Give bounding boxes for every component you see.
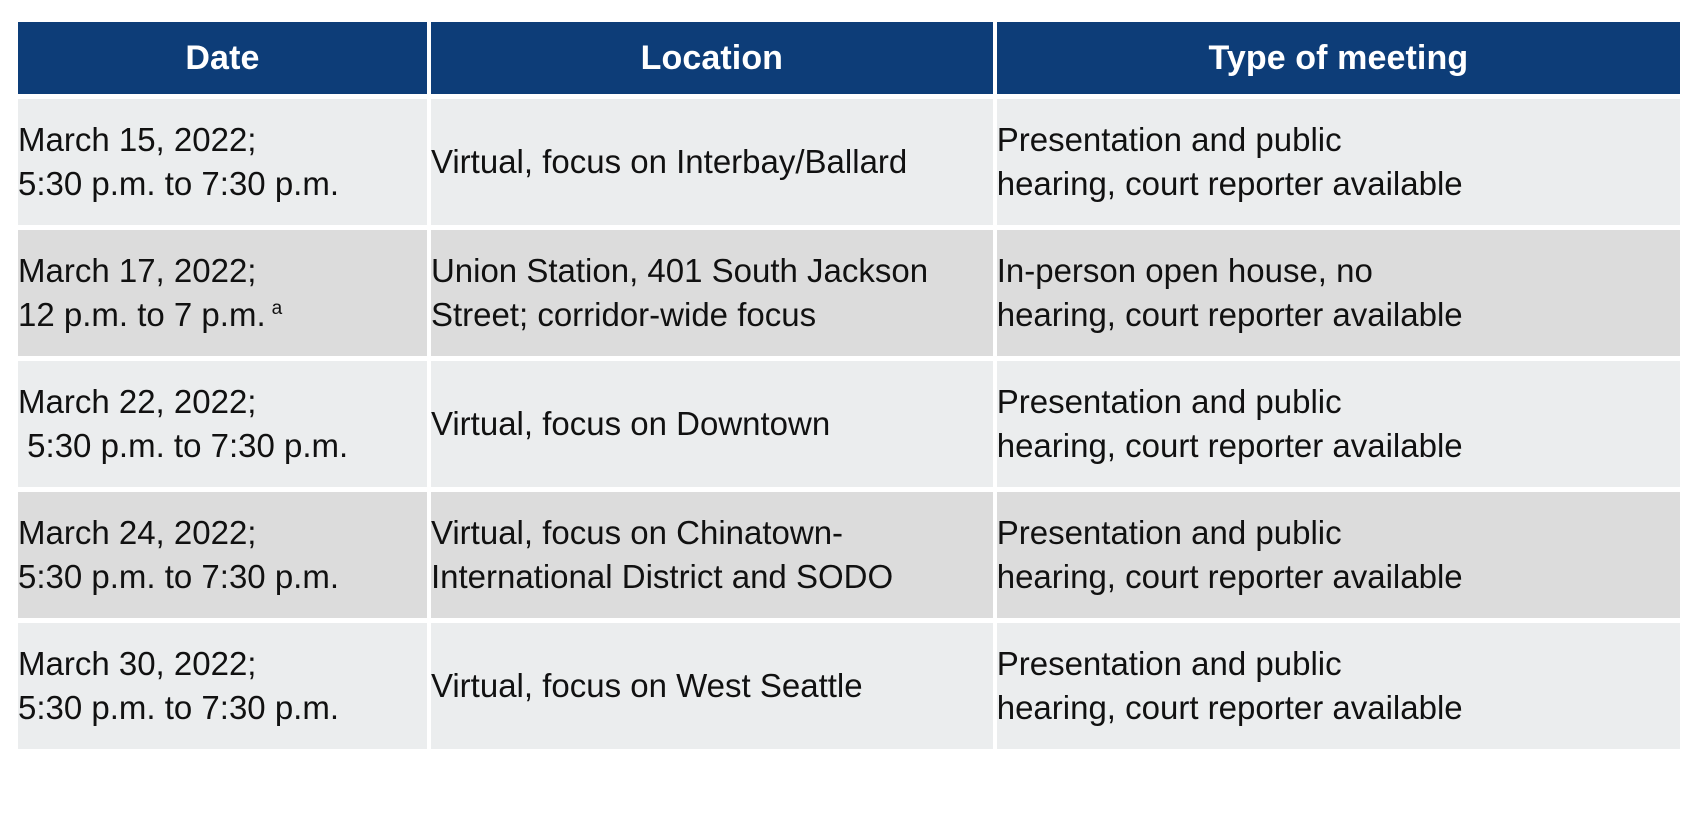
date-line-1: March 17, 2022; [18,249,427,293]
cell-type: In-person open house, no hearing, court … [997,230,1680,356]
location-line-1: Virtual, focus on Chinatown- [431,511,993,555]
table-header: Date Location Type of meeting [18,22,1680,94]
column-header-type: Type of meeting [997,22,1680,94]
type-line-2: hearing, court reporter available [997,293,1680,337]
cell-type: Presentation and public hearing, court r… [997,99,1680,225]
location-line-1: Union Station, 401 South Jackson [431,249,993,293]
location-line-2: Street; corridor-wide focus [431,293,993,337]
table-row: March 30, 2022; 5:30 p.m. to 7:30 p.m. V… [18,623,1680,749]
cell-date: March 22, 2022; 5:30 p.m. to 7:30 p.m. [18,361,427,487]
table-row: March 17, 2022; 12 p.m. to 7 p.m.a Union… [18,230,1680,356]
date-line-2-text: 5:30 p.m. to 7:30 p.m. [18,558,339,595]
table-row: March 24, 2022; 5:30 p.m. to 7:30 p.m. V… [18,492,1680,618]
public-meeting-schedule-table: Date Location Type of meeting March 15, … [14,17,1684,754]
cell-location: Union Station, 401 South Jackson Street;… [431,230,993,356]
cell-type: Presentation and public hearing, court r… [997,492,1680,618]
date-line-2-text: 12 p.m. to 7 p.m. [18,296,266,333]
date-line-1: March 15, 2022; [18,118,427,162]
date-line-2: 12 p.m. to 7 p.m.a [18,293,427,337]
cell-type: Presentation and public hearing, court r… [997,623,1680,749]
column-header-location: Location [431,22,993,94]
date-line-1: March 22, 2022; [18,380,427,424]
cell-location: Virtual, focus on Interbay/Ballard [431,99,993,225]
table-container: Date Location Type of meeting March 15, … [0,0,1684,838]
date-line-2-text: 5:30 p.m. to 7:30 p.m. [18,689,339,726]
table-row: March 22, 2022; 5:30 p.m. to 7:30 p.m. V… [18,361,1680,487]
cell-date: March 30, 2022; 5:30 p.m. to 7:30 p.m. [18,623,427,749]
type-line-2: hearing, court reporter available [997,424,1680,468]
type-line-2: hearing, court reporter available [997,686,1680,730]
location-line-1: Virtual, focus on Interbay/Ballard [431,140,993,184]
location-line-1: Virtual, focus on Downtown [431,402,993,446]
location-line-2: International District and SODO [431,555,993,599]
date-line-2: 5:30 p.m. to 7:30 p.m. [18,424,427,468]
location-line-1: Virtual, focus on West Seattle [431,664,993,708]
cell-date: March 15, 2022; 5:30 p.m. to 7:30 p.m. [18,99,427,225]
date-line-2: 5:30 p.m. to 7:30 p.m. [18,162,427,206]
cell-location: Virtual, focus on Downtown [431,361,993,487]
footnote-marker: a [272,298,283,319]
type-line-1: In-person open house, no [997,249,1680,293]
type-line-1: Presentation and public [997,118,1680,162]
cell-date: March 24, 2022; 5:30 p.m. to 7:30 p.m. [18,492,427,618]
date-line-2: 5:30 p.m. to 7:30 p.m. [18,686,427,730]
type-line-1: Presentation and public [997,642,1680,686]
table-body: March 15, 2022; 5:30 p.m. to 7:30 p.m. V… [18,99,1680,749]
table-row: March 15, 2022; 5:30 p.m. to 7:30 p.m. V… [18,99,1680,225]
type-line-1: Presentation and public [997,511,1680,555]
column-header-date: Date [18,22,427,94]
date-line-2-text: 5:30 p.m. to 7:30 p.m. [18,165,339,202]
cell-date: March 17, 2022; 12 p.m. to 7 p.m.a [18,230,427,356]
cell-location: Virtual, focus on Chinatown- Internation… [431,492,993,618]
date-line-2: 5:30 p.m. to 7:30 p.m. [18,555,427,599]
type-line-2: hearing, court reporter available [997,555,1680,599]
cell-type: Presentation and public hearing, court r… [997,361,1680,487]
type-line-2: hearing, court reporter available [997,162,1680,206]
date-line-1: March 24, 2022; [18,511,427,555]
type-line-1: Presentation and public [997,380,1680,424]
cell-location: Virtual, focus on West Seattle [431,623,993,749]
date-line-1: March 30, 2022; [18,642,427,686]
header-row: Date Location Type of meeting [18,22,1680,94]
date-line-2-text: 5:30 p.m. to 7:30 p.m. [18,427,348,464]
